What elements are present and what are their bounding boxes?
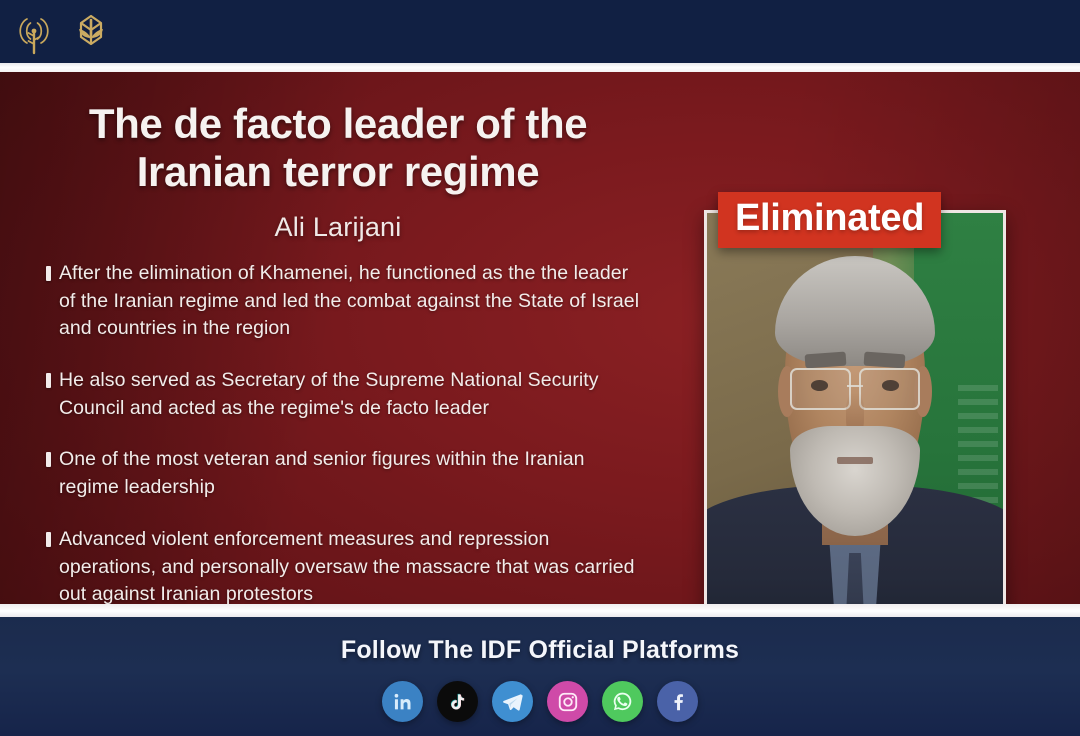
social-links — [0, 681, 1080, 722]
bullet-marker-icon — [46, 452, 51, 467]
status-badge: Eliminated — [718, 192, 941, 248]
headline-line-1: The de facto leader of the — [89, 100, 587, 147]
idf-elimination-poster: The de facto leader of the Iranian terro… — [0, 0, 1080, 736]
bullet-marker-icon — [46, 266, 51, 281]
poster-header — [0, 0, 1080, 65]
telegram-icon[interactable] — [492, 681, 533, 722]
list-item: Advanced violent enforcement measures an… — [46, 526, 646, 609]
footer-divider — [0, 604, 1080, 618]
page-title: The de facto leader of the Iranian terro… — [28, 100, 648, 196]
list-item: One of the most veteran and senior figur… — [46, 446, 646, 501]
portrait-mouth — [837, 457, 873, 464]
bullet-text: One of the most veteran and senior figur… — [59, 446, 646, 501]
glasses-lens-right — [859, 368, 920, 410]
tiktok-icon[interactable] — [437, 681, 478, 722]
list-item: He also served as Secretary of the Supre… — [46, 367, 646, 422]
broadcast-tower-icon — [14, 13, 54, 60]
whatsapp-icon[interactable] — [602, 681, 643, 722]
follow-cta-text: Follow The IDF Official Platforms — [0, 636, 1080, 665]
facebook-icon[interactable] — [657, 681, 698, 722]
idf-insignia-icon — [68, 12, 114, 61]
glasses-lens-left — [790, 368, 851, 410]
headline-line-2: Iranian terror regime — [28, 148, 648, 196]
bullet-text: He also served as Secretary of the Supre… — [59, 367, 646, 422]
bullet-text: Advanced violent enforcement measures an… — [59, 526, 646, 609]
poster-body: The de facto leader of the Iranian terro… — [0, 72, 1080, 607]
subject-portrait — [704, 210, 1006, 641]
subject-name: Ali Larijani — [28, 212, 648, 243]
poster-footer: Follow The IDF Official Platforms — [0, 617, 1080, 736]
bullet-marker-icon — [46, 373, 51, 388]
instagram-icon[interactable] — [547, 681, 588, 722]
linkedin-icon[interactable] — [382, 681, 423, 722]
bullet-text: After the elimination of Khamenei, he fu… — [59, 260, 646, 343]
bullet-list: After the elimination of Khamenei, he fu… — [46, 260, 646, 609]
bullet-marker-icon — [46, 532, 51, 547]
list-item: After the elimination of Khamenei, he fu… — [46, 260, 646, 343]
